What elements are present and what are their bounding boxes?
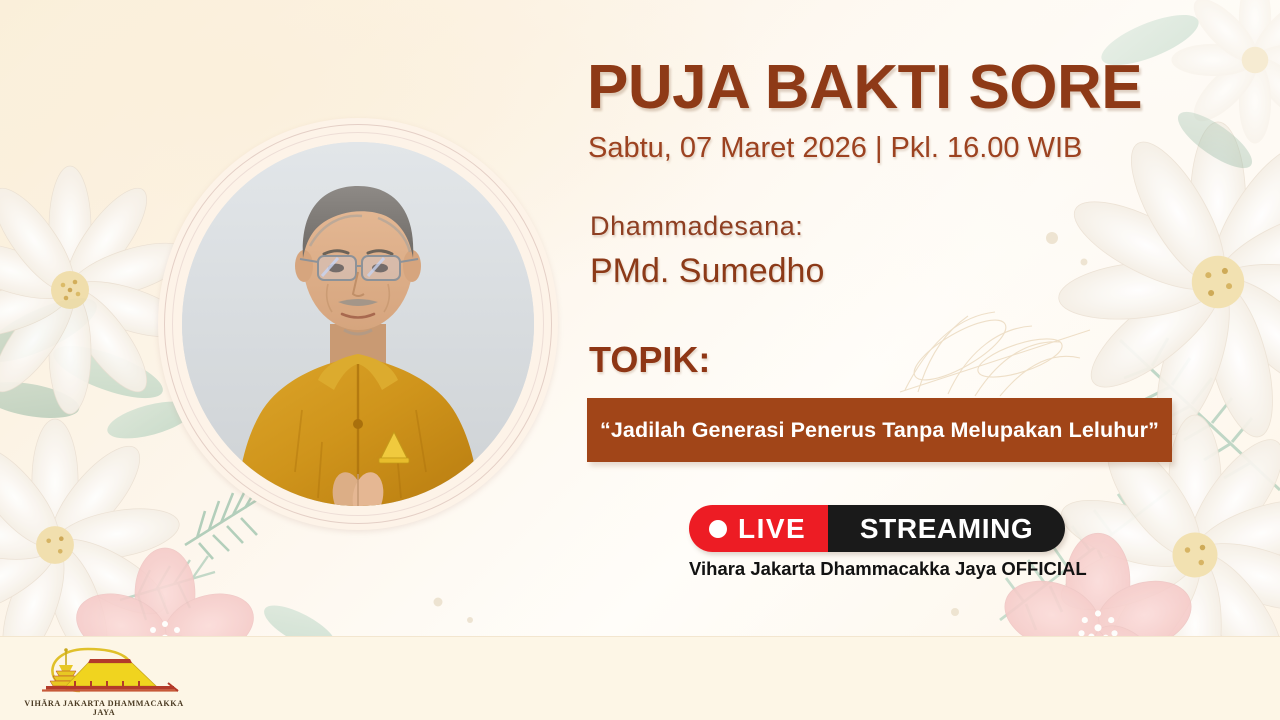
live-label: LIVE	[738, 513, 806, 545]
event-datetime: Sabtu, 07 Maret 2026 | Pkl. 16.00 WIB	[588, 132, 1208, 165]
dhammadesana-label: Dhammadesana:	[590, 211, 803, 242]
vihara-logo: VIHĀRA JAKARTA DHAMMACAKKA JAYA	[16, 641, 192, 717]
footer-bar: VIHĀRA JAKARTA DHAMMACAKKA JAYA Vihāra J…	[0, 636, 1280, 720]
page-title: PUJA BAKTI SORE	[587, 56, 1187, 119]
channel-name: Vihara Jakarta Dhammacakka Jaya OFFICIAL	[689, 558, 1065, 580]
logo-caption: VIHĀRA JAKARTA DHAMMACAKKA JAYA	[16, 699, 192, 717]
streaming-label: STREAMING	[860, 513, 1033, 545]
streaming-label-section: STREAMING	[828, 505, 1065, 552]
speaker-name: PMd. Sumedho	[590, 252, 824, 291]
poster-canvas: PUJA BAKTI SORE Sabtu, 07 Maret 2026 | P…	[0, 0, 1280, 720]
live-label-section: LIVE	[689, 505, 828, 552]
poster-content: PUJA BAKTI SORE Sabtu, 07 Maret 2026 | P…	[0, 0, 1280, 636]
topic-bar: “Jadilah Generasi Penerus Tanpa Melupaka…	[587, 398, 1172, 462]
topic-label: TOPIK:	[589, 339, 710, 381]
topic-text: “Jadilah Generasi Penerus Tanpa Melupaka…	[600, 418, 1159, 443]
live-streaming-badge[interactable]: LIVE STREAMING	[689, 505, 1065, 552]
live-dot-icon	[709, 520, 727, 538]
